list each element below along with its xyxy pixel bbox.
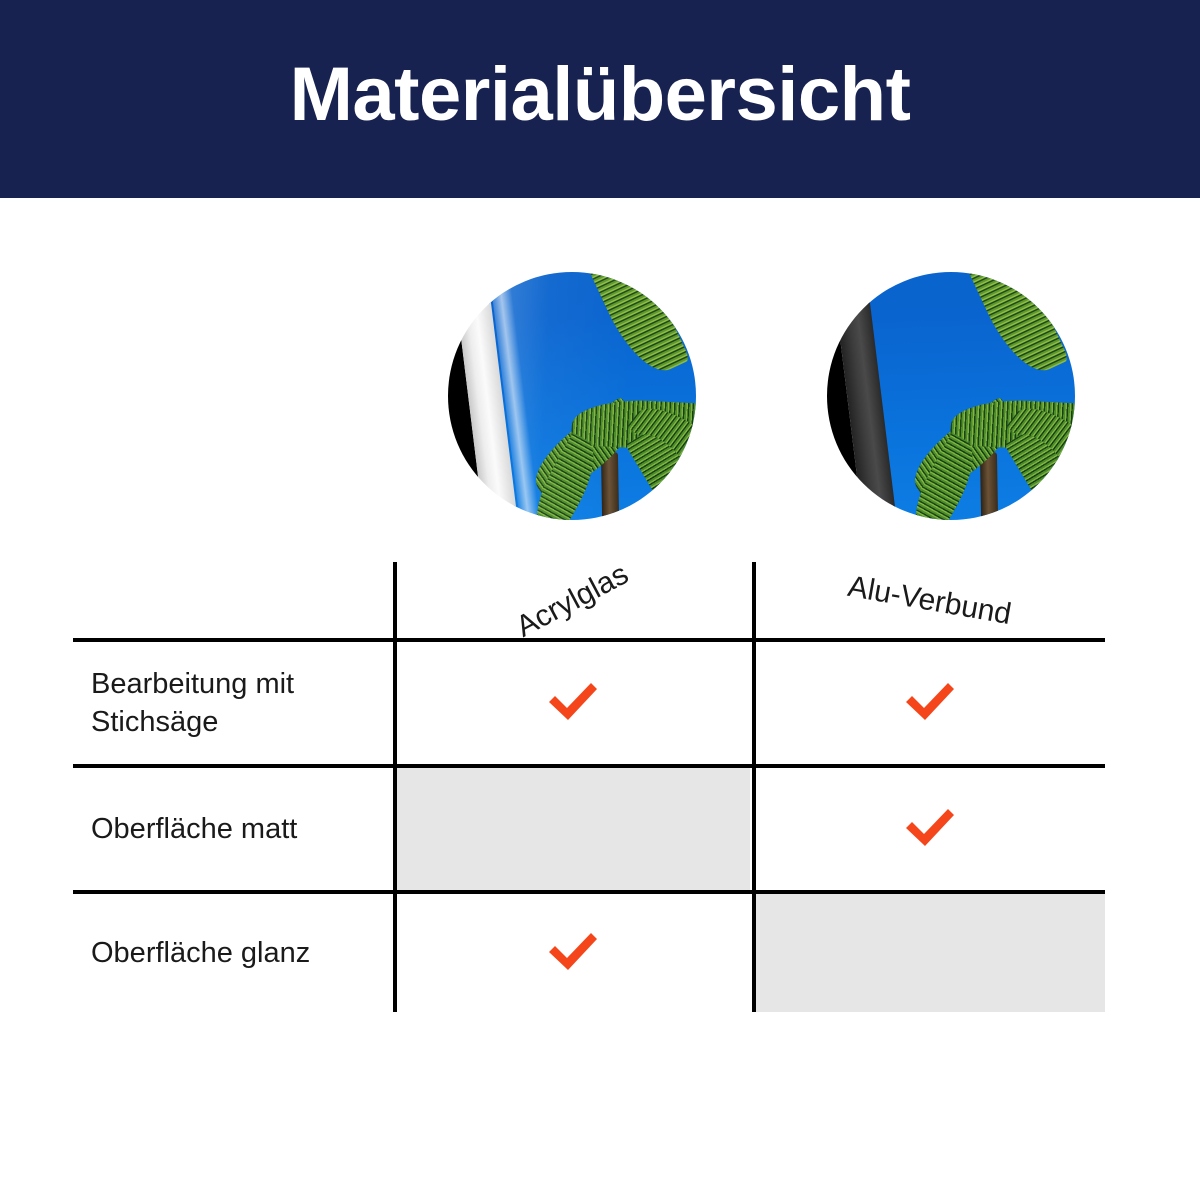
- alu-verbund-scene: [827, 272, 1075, 520]
- row-label-oberflaeche-matt: Oberfläche matt: [91, 768, 391, 890]
- palm-crown: [514, 394, 696, 520]
- acrylglas-preview-image: [448, 272, 696, 520]
- unavailable-cell-matt-acrylglas: [395, 768, 750, 890]
- check-icon: [545, 929, 601, 977]
- check-icon: [902, 679, 958, 727]
- row-label-bearbeitung-stichsaege: Bearbeitung mit Stichsäge: [91, 642, 391, 764]
- check-icon: [902, 805, 958, 853]
- page-header: Materialübersicht: [0, 0, 1200, 198]
- alu-verbund-preview-image: [827, 272, 1075, 520]
- material-comparison-table: Acrylglas Alu-Verbund Bearbeitung mit St…: [73, 562, 1105, 1012]
- palm-crown: [893, 394, 1075, 520]
- preview-row: [0, 272, 1200, 522]
- check-cell-stichsaege-alu-verbund: [754, 642, 1105, 764]
- page-title: Materialübersicht: [290, 57, 911, 133]
- row-label-oberflaeche-glanz: Oberfläche glanz: [91, 894, 391, 1012]
- acrylglas-scene: [448, 272, 696, 520]
- check-cell-glanz-acrylglas: [395, 894, 750, 1012]
- check-icon: [545, 679, 601, 727]
- check-cell-matt-alu-verbund: [754, 768, 1105, 890]
- unavailable-cell-glanz-alu-verbund: [754, 894, 1105, 1012]
- material-overview-page: Materialübersicht: [0, 0, 1200, 1200]
- check-cell-stichsaege-acrylglas: [395, 642, 750, 764]
